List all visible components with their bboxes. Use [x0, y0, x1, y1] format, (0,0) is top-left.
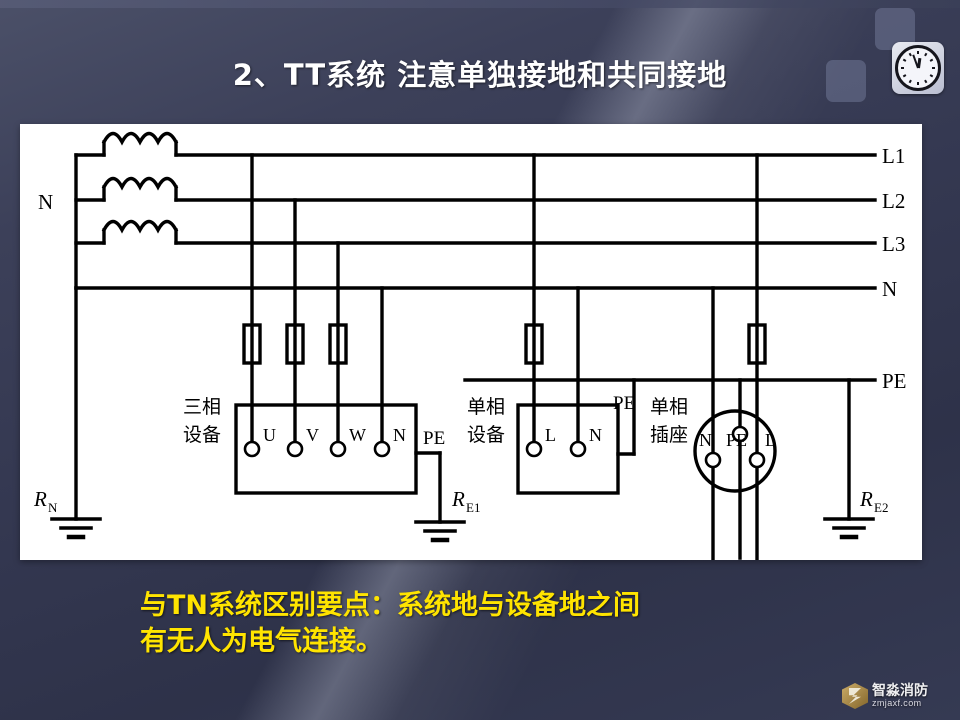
terminal-label-n-1ph: N — [589, 425, 602, 445]
terminal-label-v: V — [306, 425, 319, 445]
socket-terminal-l — [750, 453, 764, 467]
terminal-l-1ph — [527, 442, 541, 456]
svg-text:R: R — [33, 487, 47, 511]
bus-label-l2: L2 — [882, 189, 905, 213]
terminal-w — [331, 442, 345, 456]
caption-line-1: 与TN系统区别要点：系统地与设备地之间 — [140, 588, 900, 624]
socket-terminal-label-pe: PE — [726, 430, 747, 450]
bus-label-l3: L3 — [882, 232, 905, 256]
fuse-symbol — [749, 325, 765, 363]
three-phase-device-label-line2: 设备 — [183, 424, 221, 446]
source-neutral-label: N — [38, 190, 53, 214]
slide-caption: 与TN系统区别要点：系统地与设备地之间 有无人为电气连接。 — [140, 588, 900, 660]
bus-label-pe: PE — [882, 369, 907, 393]
fuse-symbol — [287, 325, 303, 363]
fuse-symbol — [244, 325, 260, 363]
earth-symbol-re1 — [416, 522, 464, 540]
socket-terminal-label-n: N — [699, 430, 712, 450]
watermark-url: zmjaxf.com — [872, 699, 928, 708]
watermark-name: 智淼消防 — [872, 684, 928, 699]
single-phase-device-label-line1: 单相 — [467, 396, 505, 418]
terminal-label-w: W — [349, 425, 366, 445]
transformer-winding-coil — [104, 179, 176, 188]
bus-label-l1: L1 — [882, 144, 905, 168]
fuse-symbol — [330, 325, 346, 363]
single-phase-pe-label: PE — [613, 393, 635, 414]
terminal-n-1ph — [571, 442, 585, 456]
page-title: 2、TT系统 注意单独接地和共同接地 — [0, 52, 960, 94]
diagram-panel: N L1 L2 L3 N PE 三相 设备 U V W N PE 单相 设备 L… — [20, 124, 922, 560]
earth-symbol-rn — [52, 519, 100, 537]
caption-line-2: 有无人为电气连接。 — [140, 624, 900, 660]
bus-label-n: N — [882, 277, 897, 301]
three-phase-pe-label: PE — [423, 428, 445, 449]
transformer-winding-coil — [104, 222, 176, 231]
terminal-v — [288, 442, 302, 456]
socket-label-line1: 单相 — [650, 396, 688, 418]
svg-text:R: R — [859, 487, 873, 511]
socket-terminal-n — [706, 453, 720, 467]
single-phase-device-label-line2: 设备 — [467, 424, 505, 446]
earth-label-re2: R E2 — [859, 487, 888, 515]
watermark-logo-icon — [842, 683, 868, 709]
socket-label-line2: 插座 — [650, 424, 688, 446]
svg-text:R: R — [451, 487, 465, 511]
terminal-label-l-1ph: L — [545, 425, 556, 445]
svg-text:E2: E2 — [874, 500, 888, 515]
transformer-winding-coil — [104, 134, 176, 143]
terminal-label-u: U — [263, 425, 276, 445]
earth-label-rn: R N — [33, 487, 58, 515]
slide-background: 2、TT系统 注意单独接地和共同接地 — [0, 0, 960, 720]
terminal-n-3ph — [375, 442, 389, 456]
slide-top-band — [0, 0, 960, 8]
three-phase-device-label-line1: 三相 — [183, 396, 221, 418]
terminal-label-n-3ph: N — [393, 425, 406, 445]
terminal-u — [245, 442, 259, 456]
svg-text:N: N — [48, 500, 58, 515]
watermark: 智淼消防 zmjaxf.com — [842, 676, 960, 716]
svg-text:E1: E1 — [466, 500, 480, 515]
fuse-symbol — [526, 325, 542, 363]
socket-terminal-label-l: L — [765, 430, 776, 450]
earth-symbol-re2 — [825, 519, 873, 537]
socket-body — [695, 411, 775, 491]
earth-label-re1: R E1 — [451, 487, 480, 515]
